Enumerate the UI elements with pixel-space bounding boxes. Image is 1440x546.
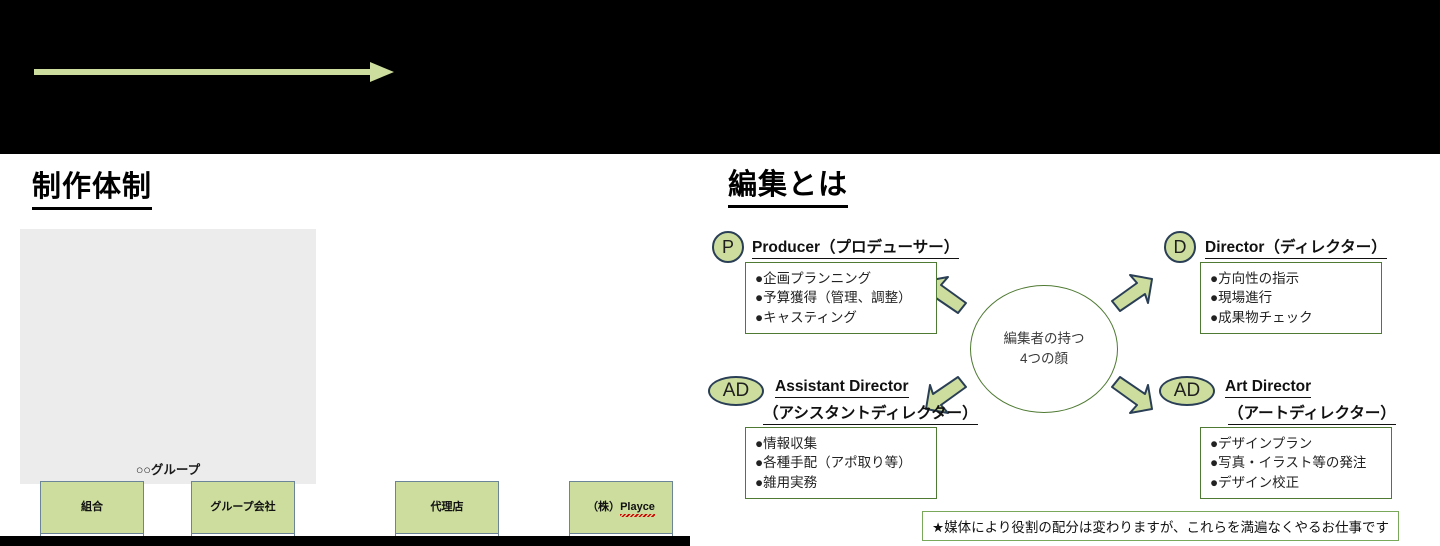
production-structure-diagram: ○○グループ 組合 生産者の 事業をサポート グループ会社 グループ全体の 事業…: [0, 225, 700, 525]
green-right-arrow-icon: [34, 60, 394, 84]
playce-name: Playce: [620, 500, 655, 514]
arrow-southeast-icon: [1108, 373, 1156, 417]
slide-root: 制作体制 編集とは ○○グループ 組合 生産者の 事業をサポート グループ会社 …: [0, 0, 1440, 546]
center-circle: 編集者の持つ 4つの顔: [970, 285, 1118, 413]
column-header-kumiai: 組合: [41, 482, 143, 534]
footer-note: ★媒体により役割の配分は変わりますが、これらを満遍なくやるお仕事です: [922, 511, 1399, 541]
group-background-band: [20, 229, 316, 484]
center-circle-line-1: 編集者の持つ: [1004, 329, 1085, 349]
role-box-art-director: ●デザインプラン ●写真・イラスト等の発注 ●デザイン校正: [1200, 427, 1392, 499]
role-item: ●成果物チェック: [1210, 308, 1371, 327]
role-title-producer: Producer（プロデューサー）: [752, 235, 959, 259]
role-item: ●現場進行: [1210, 288, 1371, 307]
role-item: ●予算獲得（管理、調整）: [755, 288, 926, 307]
role-item: ●キャスティング: [755, 308, 926, 327]
role-item: ●デザインプラン: [1210, 434, 1381, 453]
role-box-director: ●方向性の指示 ●現場進行 ●成果物チェック: [1200, 262, 1382, 334]
column-header-agency: 代理店: [396, 482, 498, 534]
bottom-black-bar: [0, 536, 690, 546]
role-title-assistant-director-line1: Assistant Director: [775, 378, 909, 398]
center-circle-line-2: 4つの顔: [1020, 349, 1068, 369]
playce-prefix: （株）: [587, 500, 620, 514]
role-item: ●方向性の指示: [1210, 269, 1371, 288]
badge-assistant-director: AD: [708, 376, 764, 406]
column-header-playce: （株）Playce: [570, 482, 672, 534]
role-title-art-director-line2: （アートディレクター）: [1228, 401, 1396, 425]
role-title-director: Director（ディレクター）: [1205, 235, 1387, 259]
role-item: ●デザイン校正: [1210, 473, 1381, 492]
column-header-group-company: グループ会社: [192, 482, 294, 534]
role-title-assistant-director-line2: （アシスタントディレクター）: [763, 401, 978, 425]
arrow-northeast-icon: [1108, 271, 1156, 315]
badge-producer: P: [712, 231, 744, 263]
group-label: ○○グループ: [20, 459, 316, 478]
role-title-art-director-line1: Art Director: [1225, 378, 1311, 398]
badge-art-director: AD: [1159, 376, 1215, 406]
badge-director: D: [1164, 231, 1196, 263]
role-item: ●情報収集: [755, 434, 926, 453]
role-item: ●各種手配（アポ取り等）: [755, 453, 926, 472]
role-box-assistant-director: ●情報収集 ●各種手配（アポ取り等） ●雑用実務: [745, 427, 937, 499]
top-black-band: [0, 0, 1440, 154]
right-section-title: 編集とは: [728, 161, 848, 208]
editor-roles-diagram: 編集者の持つ 4つの顔 P Producer（プロデューサー） ●企画プランニン…: [700, 215, 1440, 546]
role-item: ●企画プランニング: [755, 269, 926, 288]
role-item: ●雑用実務: [755, 473, 926, 492]
role-box-producer: ●企画プランニング ●予算獲得（管理、調整） ●キャスティング: [745, 262, 937, 334]
role-item: ●写真・イラスト等の発注: [1210, 453, 1381, 472]
left-section-title: 制作体制: [32, 163, 152, 210]
